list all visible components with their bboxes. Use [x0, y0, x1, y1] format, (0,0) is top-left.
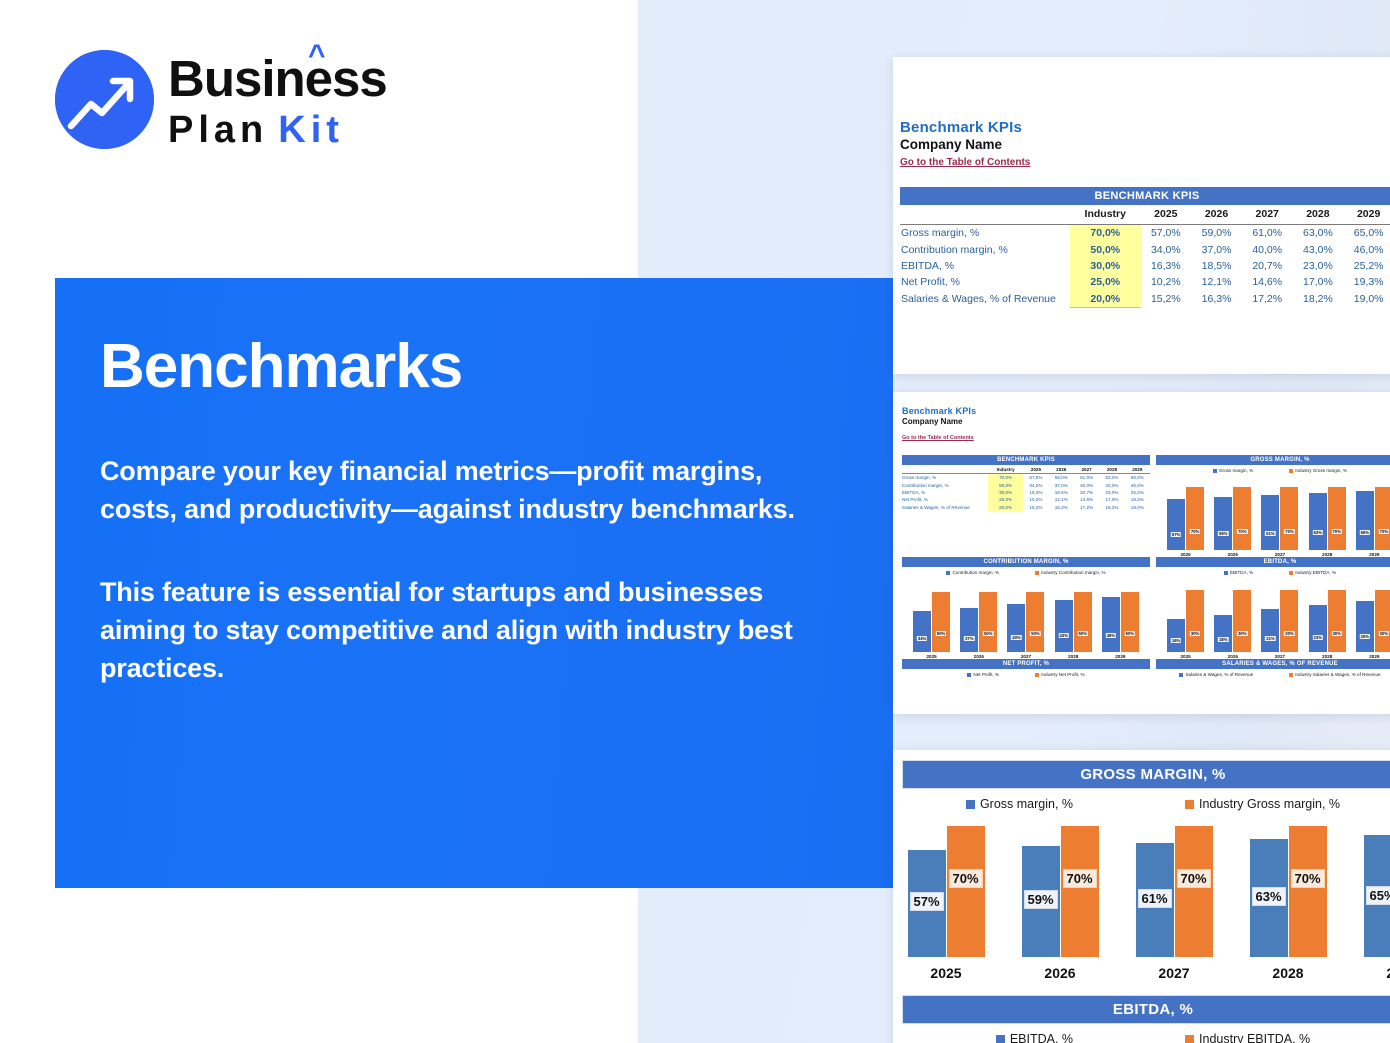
- mini-chart-band: EBITDA, %: [1156, 557, 1390, 567]
- mini-kpi-cell: 61,0%: [1074, 474, 1099, 482]
- mini-chart-legend: EBITDA, %Industry EBITDA, %: [1156, 567, 1390, 575]
- mini-chart-group: 23%30%2028: [1307, 580, 1347, 659]
- big-chart-xtick: 2025: [930, 965, 961, 981]
- mini-chart-bars: 18%30%: [1213, 580, 1253, 652]
- mini-kpi-row-header: [902, 465, 988, 474]
- hero-paragraph-1: Compare your key financial metrics—profi…: [100, 452, 829, 529]
- big-chart-bars: 65%70%: [1363, 807, 1390, 957]
- mini-bar-value-label: 50%: [1125, 631, 1135, 636]
- mini-legend-swatch-orange-icon: [1289, 673, 1293, 677]
- sheet-company-name: Company Name: [900, 137, 1390, 152]
- kpi-cell: 12,1%: [1191, 274, 1242, 290]
- mini-sheet-title: Benchmark KPIs: [902, 406, 1390, 416]
- mini-chart-bar: 50%: [1026, 592, 1044, 652]
- mini-chart-bar: 70%: [1375, 487, 1390, 550]
- table-header-row: Industry20252026202720282029: [900, 205, 1390, 225]
- mini-kpi-cell: 14,6%: [1074, 496, 1099, 503]
- mini-legend-item: Industry Salaries & Wages, % of Revenue: [1289, 672, 1380, 677]
- ebitda-legend-label-2: Industry EBITDA, %: [1199, 1032, 1310, 1043]
- mini-kpi-cell: 20,0%: [988, 504, 1023, 511]
- mini-chart-bar: 40%: [1007, 604, 1025, 652]
- mini-legend-item: EBITDA, %: [1224, 570, 1253, 575]
- kpi-cell: 70,0%: [1070, 225, 1141, 242]
- mini-kpi-row-label: Gross margin, %: [902, 474, 988, 482]
- mini-kpi-table: Industry20252026202720282029 Gross margi…: [902, 465, 1150, 511]
- mini-kpi-cell: 18,5%: [1049, 489, 1074, 496]
- kpi-row-header: [900, 205, 1070, 225]
- kpi-col-header-2026: 2026: [1191, 205, 1242, 225]
- kpi-cell: 20,7%: [1242, 258, 1293, 274]
- mini-chart-bars: 34%50%: [912, 580, 952, 652]
- mini-chart-plot: 16%30%202518%30%202621%30%202723%30%2028…: [1156, 575, 1390, 659]
- big-chart-bar: 59%: [1022, 846, 1060, 957]
- big-bar-value-label: 70%: [1176, 869, 1210, 888]
- mini-kpi-cell: 10,2%: [1023, 496, 1048, 503]
- mini-kpi-col-header: Industry: [988, 465, 1023, 474]
- mini-table-row: Salaries & Wages, % of Revenue20,0%15,2%…: [902, 504, 1150, 511]
- kpi-row-label: Gross margin, %: [900, 225, 1070, 242]
- table-row: Gross margin, %70,0%57,0%59,0%61,0%63,0%…: [900, 225, 1390, 242]
- mini-chart-plot: 34%50%202537%50%202640%50%202743%50%2028…: [902, 575, 1150, 659]
- big-chart-bar: 70%: [1289, 826, 1327, 957]
- mini-chart-bars: 23%30%: [1307, 580, 1347, 652]
- mini-chart-ebitda: EBITDA, %EBITDA, %Industry EBITDA, %16%3…: [1156, 557, 1390, 659]
- mini-legend-item: Industry Contribution margin, %: [1035, 570, 1105, 575]
- kpi-cell: 19,3%: [1343, 274, 1390, 290]
- ebitda-chart-legend: EBITDA, % Industry EBITDA, %: [893, 1024, 1390, 1043]
- mini-kpi-band: BENCHMARK KPIS: [902, 455, 1150, 465]
- brand-kit-text: Kit: [278, 109, 344, 151]
- mini-chart-bar: 50%: [1121, 592, 1139, 652]
- mini-chart-group: 63%70%2028: [1307, 478, 1347, 557]
- mini-chart-bars: 57%70%: [1166, 478, 1206, 550]
- big-bar-value-label: 61%: [1137, 889, 1171, 908]
- mini-kpi-cell: 17,2%: [1074, 504, 1099, 511]
- kpi-col-header-2027: 2027: [1242, 205, 1293, 225]
- mini-kpi-cell: 25,0%: [988, 496, 1023, 503]
- mini-chart-bar: 46%: [1102, 597, 1120, 652]
- mini-table-row: Gross margin, %70,0%57,0%59,0%61,0%63,0%…: [902, 474, 1150, 482]
- mini-kpi-cell: 20,7%: [1074, 489, 1099, 496]
- big-bar-value-label: 70%: [1062, 869, 1096, 888]
- mini-chart-bars: 16%30%: [1166, 580, 1206, 652]
- mini-kpi-cell: 57,0%: [1023, 474, 1048, 482]
- big-chart-bars: 57%70%: [907, 807, 985, 957]
- mini-legend-swatch-blue-icon: [946, 571, 950, 575]
- mini-legend-swatch-blue-icon: [1179, 673, 1183, 677]
- table-row: Contribution margin, %50,0%34,0%37,0%40,…: [900, 241, 1390, 257]
- mini-chart-bars: 63%70%: [1307, 478, 1347, 550]
- kpi-cell: 20,0%: [1070, 291, 1141, 308]
- mini-chart-bars: 59%70%: [1213, 478, 1253, 550]
- big-chart-group: 65%70%2029: [1363, 807, 1390, 981]
- big-chart-bar: 70%: [947, 826, 985, 957]
- mini-chart-bar: 25%: [1356, 601, 1374, 652]
- mini-bar-value-label: 43%: [1058, 633, 1068, 638]
- hero-paragraph-2: This feature is essential for startups a…: [100, 573, 829, 688]
- mini-bar-value-label: 30%: [1284, 631, 1294, 636]
- mini-kpi-cell: 25,2%: [1125, 489, 1150, 496]
- mini-chart-bar: 43%: [1055, 600, 1073, 652]
- mini-chart-group: 61%70%2027: [1260, 478, 1300, 557]
- mini-chart-group: 43%50%2028: [1053, 580, 1093, 659]
- ebitda-legend-swatch-orange-icon: [1185, 1035, 1194, 1043]
- mini-kpi-row-label: EBITDA, %: [902, 489, 988, 496]
- big-chart-group: 59%70%2026: [1021, 807, 1099, 981]
- big-chart-bars: 63%70%: [1249, 807, 1327, 957]
- big-chart-group: 57%70%2025: [907, 807, 985, 981]
- big-chart-bar: 70%: [1061, 826, 1099, 957]
- mini-bar-value-label: 50%: [936, 631, 946, 636]
- mini-bar-value-label: 30%: [1237, 631, 1247, 636]
- kpi-cell: 25,0%: [1070, 274, 1141, 290]
- mini-legend-label: Contribution margin, %: [952, 570, 999, 575]
- mini-kpi-cell: 16,3%: [1023, 489, 1048, 496]
- big-chart-bars: 61%70%: [1135, 807, 1213, 957]
- kpi-cell: 16,3%: [1191, 291, 1242, 308]
- table-row: Salaries & Wages, % of Revenue20,0%15,2%…: [900, 291, 1390, 308]
- big-chart-xtick: 2026: [1044, 965, 1075, 981]
- mini-kpi-row-label: Contribution margin, %: [902, 481, 988, 488]
- kpi-cell: 34,0%: [1141, 241, 1192, 257]
- kpi-cell: 37,0%: [1191, 241, 1242, 257]
- mini-kpi-cell: 19,3%: [1125, 496, 1150, 503]
- kpi-cell: 17,0%: [1293, 274, 1344, 290]
- mini-chart-bar: 37%: [960, 608, 978, 652]
- big-chart-xtick: 2029: [1386, 965, 1390, 981]
- mini-chart-band: GROSS MARGIN, %: [1156, 455, 1390, 465]
- big-chart-bar: 65%: [1364, 835, 1390, 957]
- mini-kpi-cell: 17,0%: [1099, 496, 1124, 503]
- mini-chart-group: 21%30%2027: [1260, 580, 1300, 659]
- mini-chart-bar: 21%: [1261, 609, 1279, 652]
- mini-bar-value-label: 50%: [1030, 631, 1040, 636]
- brand-logo[interactable]: Business ^ PlanKit: [55, 50, 387, 149]
- mini-chart-legend: Net Profit, %Industry Net Profit, %: [902, 669, 1150, 677]
- mini-table-row: Net Profit, %25,0%10,2%12,1%14,6%17,0%19…: [902, 496, 1150, 503]
- kpi-row-label: Salaries & Wages, % of Revenue: [900, 291, 1070, 308]
- mini-chart-group: 18%30%2026: [1213, 580, 1253, 659]
- page-title: Benchmarks: [100, 336, 829, 398]
- mini-bar-value-label: 61%: [1265, 531, 1275, 536]
- mini-kpi-table-body: Gross margin, %70,0%57,0%59,0%61,0%63,0%…: [902, 474, 1150, 511]
- kpi-row-label: Contribution margin, %: [900, 241, 1070, 257]
- mini-chart-bars: 25%30%: [1354, 580, 1390, 652]
- big-chart-bar: 63%: [1250, 839, 1288, 957]
- mini-chart-bar: 30%: [1186, 590, 1204, 652]
- big-chart-group: 61%70%2027: [1135, 807, 1213, 981]
- mini-kpi-cell: 50,0%: [988, 481, 1023, 488]
- mini-chart-bars: 43%50%: [1053, 580, 1093, 652]
- mini-bar-value-label: 70%: [1379, 529, 1389, 534]
- mini-dashboard: Benchmark KPIs Company Name Go to the Ta…: [893, 392, 1390, 714]
- big-chart-xtick: 2027: [1158, 965, 1189, 981]
- mini-legend-swatch-orange-icon: [1035, 571, 1039, 575]
- mini-legend-label: Industry Gross margin, %: [1295, 468, 1347, 473]
- table-row: Net Profit, %25,0%10,2%12,1%14,6%17,0%19…: [900, 274, 1390, 290]
- brand-wordmark: Business ^ PlanKit: [168, 51, 387, 149]
- big-bar-value-label: 70%: [1290, 869, 1324, 888]
- kpi-table: Industry20252026202720282029 Gross margi…: [900, 205, 1390, 308]
- mini-chart-group: 16%30%2025: [1166, 580, 1206, 659]
- gross-margin-chart-card[interactable]: GROSS MARGIN, % Gross margin, % Industry…: [893, 750, 1390, 1043]
- kpi-cell: 40,0%: [1242, 241, 1293, 257]
- table-row: EBITDA, %30,0%16,3%18,5%20,7%23,0%25,2%: [900, 258, 1390, 274]
- mini-bar-value-label: 70%: [1237, 529, 1247, 534]
- mini-kpi-cell: 23,0%: [1099, 489, 1124, 496]
- mini-chart-salaries-wages: SALARIES & WAGES, % OF REVENUESalaries &…: [1156, 659, 1390, 677]
- mini-bar-value-label: 50%: [983, 631, 993, 636]
- mini-chart-bars: 40%50%: [1006, 580, 1046, 652]
- ebitda-legend-swatch-blue-icon: [996, 1035, 1005, 1043]
- mini-kpi-cell: 43,0%: [1099, 481, 1124, 488]
- mini-kpi-cell: 40,0%: [1074, 481, 1099, 488]
- kpi-cell: 18,5%: [1191, 258, 1242, 274]
- mini-chart-plot: 57%70%202559%70%202661%70%202763%70%2028…: [1156, 473, 1390, 557]
- mini-chart-bar: 30%: [1375, 590, 1390, 652]
- kpi-table-band: BENCHMARK KPIS: [900, 187, 1390, 205]
- kpi-col-header-2028: 2028: [1293, 205, 1344, 225]
- mini-chart-legend: Salaries & Wages, % of RevenueIndustry S…: [1156, 669, 1390, 677]
- kpi-table-card[interactable]: Benchmark KPIs Company Name Go to the Ta…: [893, 57, 1390, 374]
- kpi-cell: 14,6%: [1242, 274, 1293, 290]
- mini-bar-value-label: 30%: [1331, 631, 1341, 636]
- mini-legend-swatch-blue-icon: [967, 673, 971, 677]
- mini-bar-value-label: 65%: [1360, 530, 1370, 535]
- mini-kpi-col-header: 2025: [1023, 465, 1048, 474]
- mini-sheet-header: Benchmark KPIs Company Name Go to the Ta…: [893, 392, 1390, 444]
- mini-kpi-cell: 12,1%: [1049, 496, 1074, 503]
- mini-table-of-contents-link[interactable]: Go to the Table of Contents: [902, 435, 974, 441]
- mini-kpi-col-header: 2028: [1099, 465, 1124, 474]
- big-chart-plot: 57%70%202559%70%202661%70%202763%70%2028…: [893, 811, 1390, 981]
- mini-bar-value-label: 37%: [964, 636, 974, 641]
- big-bar-value-label: 59%: [1023, 890, 1057, 909]
- mini-bar-value-label: 18%: [1218, 637, 1228, 642]
- dashboard-card[interactable]: Benchmark KPIs Company Name Go to the Ta…: [893, 392, 1390, 714]
- mini-kpi-col-header: 2029: [1125, 465, 1150, 474]
- ebitda-legend-item-2: Industry EBITDA, %: [1185, 1032, 1310, 1043]
- mini-chart-bar: 70%: [1233, 487, 1251, 550]
- mini-kpi-col-header: 2027: [1074, 465, 1099, 474]
- mini-chart-group: 37%50%2026: [959, 580, 999, 659]
- mini-legend-swatch-blue-icon: [1224, 571, 1228, 575]
- mini-chart-bar: 65%: [1356, 491, 1374, 550]
- kpi-cell: 16,3%: [1141, 258, 1192, 274]
- mini-chart-legend: Contribution margin, %Industry Contribut…: [902, 567, 1150, 575]
- mini-chart-bars: 61%70%: [1260, 478, 1300, 550]
- mini-legend-item: Net Profit, %: [967, 672, 999, 677]
- mini-chart-bar: 50%: [979, 592, 997, 652]
- mini-chart-bars: 65%70%: [1354, 478, 1390, 550]
- mini-legend-label: Industry Net Profit, %: [1041, 672, 1084, 677]
- mini-chart-bar: 59%: [1214, 497, 1232, 550]
- mini-chart-legend: Gross margin, %Industry Gross margin, %: [1156, 465, 1390, 473]
- mini-legend-item: Gross margin, %: [1213, 468, 1253, 473]
- mini-bar-value-label: 30%: [1379, 631, 1389, 636]
- mini-legend-label: Gross margin, %: [1219, 468, 1253, 473]
- mini-legend-swatch-blue-icon: [1213, 469, 1217, 473]
- mini-chart-bar: 50%: [932, 592, 950, 652]
- kpi-row-label: EBITDA, %: [900, 258, 1070, 274]
- mini-legend-item: Salaries & Wages, % of Revenue: [1179, 672, 1253, 677]
- mini-chart-band: CONTRIBUTION MARGIN, %: [902, 557, 1150, 567]
- kpi-row-label: Net Profit, %: [900, 274, 1070, 290]
- mini-bar-value-label: 50%: [1077, 631, 1087, 636]
- mini-chart-group: 25%30%2029: [1354, 580, 1390, 659]
- kpi-cell: 23,0%: [1293, 258, 1344, 274]
- mini-kpi-cell: 70,0%: [988, 474, 1023, 482]
- kpi-cell: 57,0%: [1141, 225, 1192, 242]
- mini-chart-gross-margin: GROSS MARGIN, %Gross margin, %Industry G…: [1156, 455, 1390, 557]
- mini-bar-value-label: 57%: [1171, 532, 1181, 537]
- mini-legend-swatch-orange-icon: [1289, 571, 1293, 575]
- mini-chart-contribution-margin: CONTRIBUTION MARGIN, %Contribution margi…: [902, 557, 1150, 659]
- kpi-cell: 43,0%: [1293, 241, 1344, 257]
- mini-chart-band: NET PROFIT, %: [902, 659, 1150, 669]
- mini-chart-group: 57%70%2025: [1166, 478, 1206, 557]
- sheet-title: Benchmark KPIs: [900, 119, 1390, 136]
- big-chart-bars: 59%70%: [1021, 807, 1099, 957]
- mini-chart-bars: 21%30%: [1260, 580, 1300, 652]
- big-bar-value-label: 70%: [948, 869, 982, 888]
- kpi-cell: 63,0%: [1293, 225, 1344, 242]
- mini-bar-value-label: 23%: [1312, 635, 1322, 640]
- mini-bar-value-label: 46%: [1106, 633, 1116, 638]
- kpi-cell: 10,2%: [1141, 274, 1192, 290]
- mini-kpi-row-label: Net Profit, %: [902, 496, 988, 503]
- mini-chart-group: 65%70%2029: [1354, 478, 1390, 557]
- mini-chart-bar: 70%: [1280, 487, 1298, 550]
- mini-sheet-company-name: Company Name: [902, 417, 1390, 426]
- circumflex-icon: ^: [308, 41, 325, 71]
- mini-legend-item: Industry EBITDA, %: [1289, 570, 1336, 575]
- mini-kpi-row-label: Salaries & Wages, % of Revenue: [902, 504, 988, 511]
- mini-bar-value-label: 70%: [1331, 529, 1341, 534]
- big-chart-xtick: 2028: [1272, 965, 1303, 981]
- kpi-cell: 59,0%: [1191, 225, 1242, 242]
- hero-panel: Benchmarks Compare your key financial me…: [55, 278, 893, 888]
- mini-kpi-cell: 46,0%: [1125, 481, 1150, 488]
- mini-dashboard-grid: BENCHMARK KPIS Industry20252026202720282…: [902, 455, 1390, 677]
- mini-bar-value-label: 30%: [1190, 631, 1200, 636]
- big-chart-bar: 57%: [908, 850, 946, 957]
- mini-table-row: EBITDA, %30,0%16,3%18,5%20,7%23,0%25,2%: [902, 489, 1150, 496]
- mini-chart-bar: 30%: [1280, 590, 1298, 652]
- big-bar-value-label: 65%: [1365, 886, 1390, 905]
- mini-chart-band: SALARIES & WAGES, % OF REVENUE: [1156, 659, 1390, 669]
- big-chart-bar: 70%: [1175, 826, 1213, 957]
- kpi-col-header-2025: 2025: [1141, 205, 1192, 225]
- mini-kpi-cell: 63,0%: [1099, 474, 1124, 482]
- mini-chart-bar: 61%: [1261, 495, 1279, 550]
- mini-kpi-cell: 30,0%: [988, 489, 1023, 496]
- kpi-cell: 25,2%: [1343, 258, 1390, 274]
- kpi-cell: 65,0%: [1343, 225, 1390, 242]
- mini-legend-item: Industry Net Profit, %: [1035, 672, 1084, 677]
- mini-bar-value-label: 70%: [1284, 529, 1294, 534]
- mini-chart-bar: 16%: [1167, 619, 1185, 652]
- mini-kpi-cell: 18,2%: [1099, 504, 1124, 511]
- kpi-cell: 15,2%: [1141, 291, 1192, 308]
- ebitda-chart-title: EBITDA, %: [902, 995, 1390, 1024]
- mini-chart-bars: 46%50%: [1100, 580, 1140, 652]
- mini-bar-value-label: 21%: [1265, 636, 1275, 641]
- mini-kpi-cell: 59,0%: [1049, 474, 1074, 482]
- kpi-table-body: Gross margin, %70,0%57,0%59,0%61,0%63,0%…: [900, 225, 1390, 308]
- mini-kpi-cell: 65,0%: [1125, 474, 1150, 482]
- mini-chart-bars: 37%50%: [959, 580, 999, 652]
- big-chart-group: 63%70%2028: [1249, 807, 1327, 981]
- mini-chart-bar: 18%: [1214, 615, 1232, 652]
- mini-legend-label: Salaries & Wages, % of Revenue: [1185, 672, 1253, 677]
- mini-kpi-cell: 34,0%: [1023, 481, 1048, 488]
- mini-chart-group: 34%50%2025: [912, 580, 952, 659]
- mini-bar-value-label: 59%: [1218, 531, 1228, 536]
- brand-plan-text: Plan: [168, 109, 268, 151]
- mini-bar-value-label: 16%: [1171, 638, 1181, 643]
- brand-line1-text: Business: [168, 50, 387, 107]
- kpi-cell: 61,0%: [1242, 225, 1293, 242]
- growth-arrow-icon: [55, 50, 154, 149]
- table-of-contents-link[interactable]: Go to the Table of Contents: [900, 157, 1030, 168]
- mini-legend-item: Industry Gross margin, %: [1289, 468, 1347, 473]
- big-bar-value-label: 57%: [909, 892, 943, 911]
- mini-table-row: Contribution margin, %50,0%34,0%37,0%40,…: [902, 481, 1150, 488]
- mini-legend-swatch-orange-icon: [1289, 469, 1293, 473]
- mini-chart-net-profit: NET PROFIT, %Net Profit, %Industry Net P…: [902, 659, 1150, 677]
- kpi-cell: 19,0%: [1343, 291, 1390, 308]
- mini-kpi-cell: 37,0%: [1049, 481, 1074, 488]
- mini-legend-swatch-orange-icon: [1035, 673, 1039, 677]
- mini-chart-group: 40%50%2027: [1006, 580, 1046, 659]
- big-chart-title: GROSS MARGIN, %: [902, 760, 1390, 789]
- slide-canvas: Business ^ PlanKit Benchmarks Compare yo…: [0, 0, 1390, 1043]
- kpi-col-header-2029: 2029: [1343, 205, 1390, 225]
- mini-bar-value-label: 25%: [1360, 634, 1370, 639]
- mini-chart-bar: 57%: [1167, 499, 1185, 550]
- kpi-cell: 46,0%: [1343, 241, 1390, 257]
- mini-kpi-cell: 16,3%: [1049, 504, 1074, 511]
- mini-kpi-table-cell: BENCHMARK KPIS Industry20252026202720282…: [902, 455, 1150, 557]
- brand-line1: Business ^: [168, 53, 387, 104]
- big-chart-bar: 61%: [1136, 843, 1174, 957]
- mini-chart-bar: 30%: [1328, 590, 1346, 652]
- mini-chart-bar: 63%: [1309, 493, 1327, 550]
- mini-legend-item: Contribution margin, %: [946, 570, 999, 575]
- mini-legend-label: Industry Salaries & Wages, % of Revenue: [1295, 672, 1380, 677]
- mini-kpi-cell: 15,2%: [1023, 504, 1048, 511]
- mini-chart-bar: 70%: [1186, 487, 1204, 550]
- mini-bar-value-label: 70%: [1190, 529, 1200, 534]
- mini-bar-value-label: 34%: [917, 636, 927, 641]
- mini-table-header-row: Industry20252026202720282029: [902, 465, 1150, 474]
- mini-kpi-cell: 19,0%: [1125, 504, 1150, 511]
- mini-kpi-col-header: 2026: [1049, 465, 1074, 474]
- big-bar-value-label: 63%: [1251, 887, 1285, 906]
- mini-legend-label: Net Profit, %: [973, 672, 999, 677]
- kpi-cell: 30,0%: [1070, 258, 1141, 274]
- mini-bar-value-label: 40%: [1011, 635, 1021, 640]
- brand-line2: PlanKit: [168, 111, 387, 149]
- mini-chart-group: 46%50%2029: [1100, 580, 1140, 659]
- kpi-cell: 17,2%: [1242, 291, 1293, 308]
- mini-chart-group: 59%70%2026: [1213, 478, 1253, 557]
- mini-chart-bar: 34%: [913, 611, 931, 652]
- kpi-cell: 18,2%: [1293, 291, 1344, 308]
- sheet-header: Benchmark KPIs Company Name Go to the Ta…: [893, 57, 1390, 170]
- ebitda-legend-label-1: EBITDA, %: [1010, 1032, 1073, 1043]
